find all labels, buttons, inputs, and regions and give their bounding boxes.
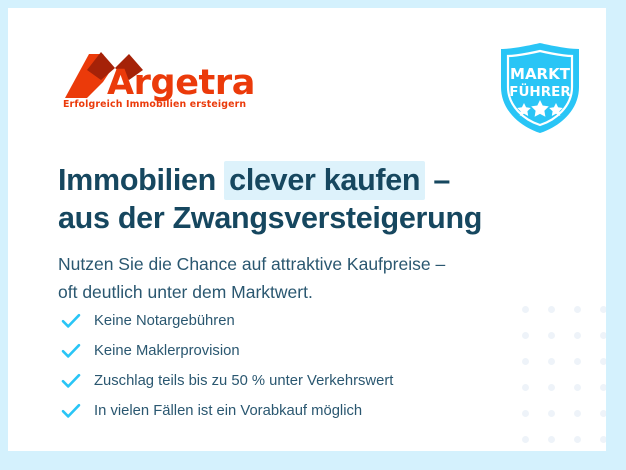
list-item: Keine Maklerprovision [60, 336, 520, 366]
decoration-dot [522, 306, 529, 313]
list-item: Zuschlag teils bis zu 50 % unter Verkehr… [60, 366, 520, 396]
marktfuehrer-badge: MARKT FÜHRER [495, 41, 585, 135]
headline: Immobilien clever kaufen – aus der Zwang… [58, 161, 558, 237]
decoration-dot [522, 358, 529, 365]
dot-pattern-decoration [522, 306, 606, 451]
decoration-dot [600, 306, 606, 313]
list-item-label: Keine Notargebühren [94, 314, 235, 329]
decoration-dot [600, 332, 606, 339]
feature-list: Keine NotargebührenKeine Maklerprovision… [60, 306, 520, 426]
decoration-dot [548, 410, 555, 417]
decoration-dot [574, 436, 581, 443]
decoration-dot [548, 358, 555, 365]
check-icon [60, 370, 82, 392]
decoration-dot [574, 358, 581, 365]
decoration-dot [574, 384, 581, 391]
decoration-dot [600, 384, 606, 391]
list-item-label: Keine Maklerprovision [94, 344, 240, 359]
decoration-dot [548, 306, 555, 313]
subheadline-line-1: Nutzen Sie die Chance auf attraktive Kau… [58, 250, 578, 278]
decoration-dot [600, 436, 606, 443]
decoration-dot [522, 436, 529, 443]
badge-line1-text: MARKT [510, 65, 571, 83]
headline-highlight: clever kaufen [224, 161, 425, 200]
argetra-wordmark: Argetra [107, 66, 255, 101]
decoration-dot [574, 306, 581, 313]
decoration-dot [548, 436, 555, 443]
headline-text-after: – [425, 163, 450, 197]
banner-canvas: Argetra Erfolgreich Immobilien ersteiger… [8, 8, 606, 451]
list-item-label: In vielen Fällen ist ein Vorabkauf mögli… [94, 404, 362, 419]
decoration-dot [600, 410, 606, 417]
headline-line-1: Immobilien clever kaufen – [58, 161, 558, 199]
check-icon [60, 340, 82, 362]
decoration-dot [548, 384, 555, 391]
decoration-dot [574, 332, 581, 339]
decoration-dot [522, 384, 529, 391]
decoration-dot [548, 332, 555, 339]
list-item-label: Zuschlag teils bis zu 50 % unter Verkehr… [94, 374, 393, 389]
subheadline-line-2: oft deutlich unter dem Marktwert. [58, 278, 578, 306]
badge-line2-text: FÜHRER [509, 82, 571, 100]
promo-banner: Argetra Erfolgreich Immobilien ersteiger… [0, 0, 626, 470]
list-item: In vielen Fällen ist ein Vorabkauf mögli… [60, 396, 520, 426]
subheadline: Nutzen Sie die Chance auf attraktive Kau… [58, 250, 578, 306]
decoration-dot [522, 410, 529, 417]
headline-line-2: aus der Zwangsversteigerung [58, 199, 558, 237]
check-icon [60, 310, 82, 332]
decoration-dot [522, 332, 529, 339]
headline-text-before: Immobilien [58, 163, 224, 197]
decoration-dot [574, 410, 581, 417]
decoration-dot [600, 358, 606, 365]
check-icon [60, 400, 82, 422]
argetra-tagline: Erfolgreich Immobilien ersteigern [63, 99, 246, 110]
list-item: Keine Notargebühren [60, 306, 520, 336]
argetra-logo[interactable]: Argetra Erfolgreich Immobilien ersteiger… [63, 52, 263, 114]
